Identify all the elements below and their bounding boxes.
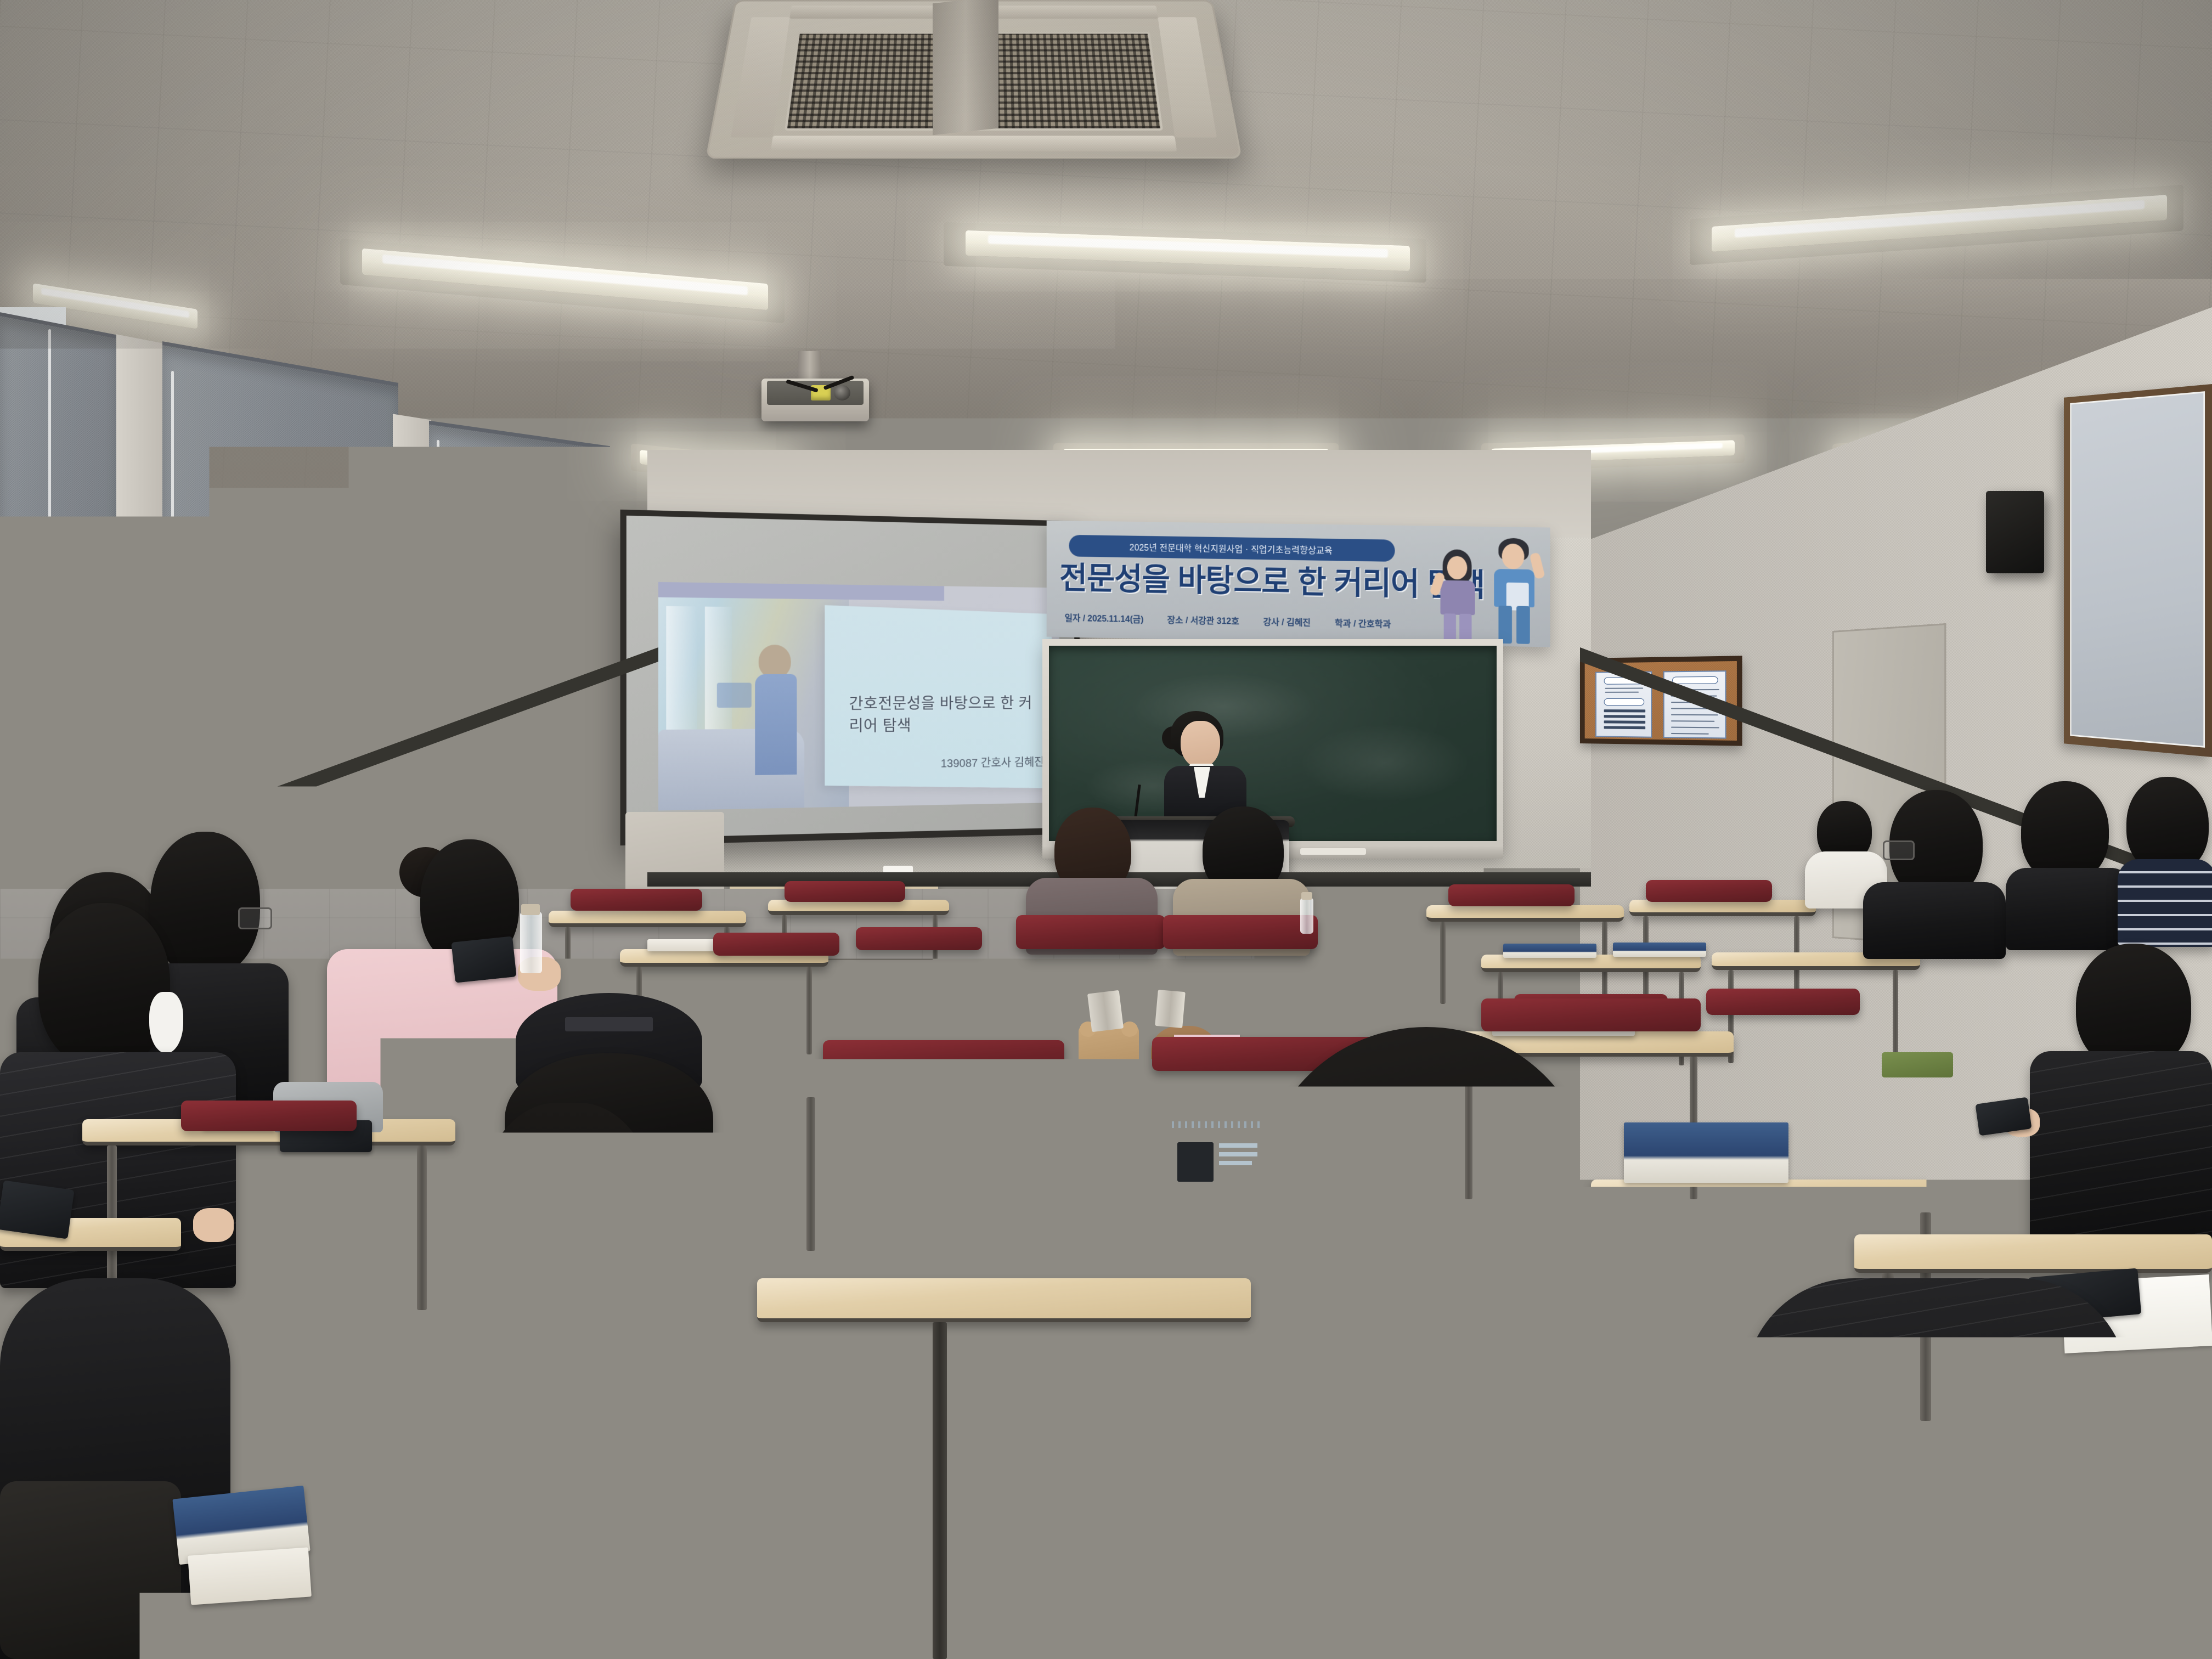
- pencils-icon[interactable]: [1087, 990, 1124, 1032]
- attendee-wall-4: [2118, 777, 2212, 941]
- smartphone-pink-student[interactable]: [451, 936, 516, 983]
- book-far-right-1[interactable]: [1503, 944, 1596, 958]
- slide-photo-nurse-body: [755, 674, 797, 775]
- banner-figure-female-icon: [1432, 549, 1482, 644]
- book-far-right-2[interactable]: [1613, 943, 1706, 957]
- presentation-slide: 간호전문성을 바탕으로 한 커리어 탐색 139087 간호사 김혜진: [658, 582, 1059, 811]
- window-glass-lower-left: [10, 638, 98, 821]
- blind-chain-1[interactable]: [48, 329, 51, 587]
- bottle-cap: [521, 904, 540, 915]
- slide-photo-nurse-head: [759, 645, 791, 678]
- presenter-face: [1181, 721, 1220, 768]
- attendee-torso: [0, 1052, 236, 1288]
- chair-front-left[interactable]: [1016, 915, 1165, 949]
- water-bottle-left[interactable]: [520, 912, 542, 973]
- desk-far-right-2: [1629, 900, 1816, 916]
- blind-texture-2: [162, 345, 398, 805]
- classroom-photo: 간호전문성을 바탕으로 한 커리어 탐색 139087 간호사 김혜진 2025…: [0, 0, 2212, 1659]
- hoodie-hood: [1218, 1301, 1635, 1565]
- chair-far-3[interactable]: [713, 933, 839, 956]
- screen-surface: 간호전문성을 바탕으로 한 커리어 탐색 139087 간호사 김혜진: [627, 516, 1074, 838]
- desk-far-left-1: [549, 911, 746, 927]
- banner-meta-department: 학과 / 간호학과: [1335, 616, 1391, 630]
- event-banner: 2025년 전문대학 혁신지원사업 · 직업기초능력향상교육 전문성을 바탕으로…: [1047, 521, 1550, 647]
- chair-far-2[interactable]: [785, 881, 905, 902]
- attendee-wall-3: [2006, 781, 2132, 946]
- chair-far-6[interactable]: [1646, 880, 1772, 902]
- desk-leg: [806, 967, 812, 1054]
- attendee-wall-2: [1863, 790, 2006, 955]
- desk-far-center-1: [768, 900, 949, 915]
- jacket-on-desk: [955, 1306, 1240, 1470]
- window-blind-2[interactable]: [162, 341, 398, 805]
- slide-photo: [658, 597, 849, 811]
- wall-pillar-1: [116, 334, 166, 766]
- projection-screen: 간호전문성을 바탕으로 한 커리어 탐색 139087 간호사 김혜진: [620, 510, 1080, 845]
- banner-headline: 전문성을 바탕으로 한 커리어 탐색: [1059, 563, 1441, 601]
- chair-far-4[interactable]: [856, 927, 982, 950]
- chalk-smudge-2: [1300, 724, 1470, 802]
- projector-lens-icon: [834, 385, 850, 400]
- attendee-head: [38, 903, 170, 1068]
- slide-photo-frame: [716, 682, 751, 708]
- attendee-torso: [2118, 859, 2212, 947]
- tablet-foreground-left[interactable]: [0, 1180, 75, 1239]
- slide-author: 139087 간호사 김혜진: [897, 753, 1044, 771]
- attendee-torso: [1863, 882, 2006, 959]
- jacket-texture: [0, 1052, 236, 1288]
- glasses-icon: [238, 907, 272, 929]
- attendee-head: [1262, 1027, 1591, 1345]
- blind-texture-3: [429, 425, 610, 825]
- slide-title: 간호전문성을 바탕으로 한 커리어 탐색: [849, 692, 1045, 737]
- attendee-torso: [2030, 1051, 2212, 1254]
- chair-center-right[interactable]: [1481, 998, 1701, 1031]
- window-blind-3[interactable]: [429, 421, 610, 825]
- banner-figure-male-icon: [1486, 538, 1544, 645]
- slide-photo-curtain-2: [705, 606, 732, 729]
- chair-far-1[interactable]: [571, 889, 702, 911]
- speaker-icon-left: [473, 516, 523, 587]
- green-lunchbox[interactable]: [1882, 1052, 1953, 1077]
- attendee-head: [2021, 781, 2109, 882]
- banner-meta-date: 일자 / 2025.11.14(금): [1065, 611, 1144, 625]
- blind-chain-2[interactable]: [171, 371, 174, 667]
- book-floor-right[interactable]: [1951, 1525, 2120, 1597]
- chair-far-8[interactable]: [1706, 989, 1860, 1015]
- ac-vane-bottom: [771, 136, 1177, 151]
- banner-meta-place: 장소 / 서강관 312호: [1167, 613, 1239, 627]
- chair-mid-left[interactable]: [823, 1040, 1064, 1076]
- desk-leg: [933, 915, 938, 992]
- desk-leg: [1893, 970, 1898, 1063]
- attendee-right-phone: [2030, 944, 2212, 1251]
- banner-pill-text: 2025년 전문대학 혁신지원사업 · 직업기초능력향상교육: [1130, 540, 1333, 556]
- attendee-torso: [2006, 868, 2132, 950]
- face-mask-icon: [149, 992, 183, 1053]
- attendee-sherpa-fleece: [247, 1103, 828, 1659]
- chair-front-right[interactable]: [1163, 915, 1318, 949]
- speaker-icon-right: [1986, 491, 2044, 573]
- bag-floor-right[interactable]: [1734, 1350, 1931, 1525]
- banner-program-pill: 2025년 전문대학 혁신지원사업 · 직업기초능력향상교육: [1069, 535, 1395, 562]
- cap-strap: [565, 1017, 653, 1031]
- desk-near-right: [1854, 1234, 2212, 1273]
- glasses-icon: [1883, 840, 1915, 860]
- pencils-icon-2[interactable]: [1155, 990, 1186, 1028]
- banner-meta-row: 일자 / 2025.11.14(금) 장소 / 서강관 312호 강사 / 김혜…: [1065, 611, 1469, 631]
- jacket-texture: [2030, 1051, 2212, 1254]
- slide-photo-curtain-1: [666, 606, 697, 738]
- water-bottle-front[interactable]: [1300, 898, 1313, 934]
- attendee-hand: [193, 1208, 234, 1242]
- chair-far-5[interactable]: [1448, 884, 1575, 906]
- banner-meta-lecturer: 강사 / 김혜진: [1263, 614, 1311, 629]
- ceiling-duct: [933, 0, 998, 135]
- notebook-floor-left[interactable]: [188, 1547, 312, 1605]
- desk-leg: [1838, 1108, 1845, 1234]
- desk-leg: [1440, 922, 1446, 1004]
- whiteboard-frame: [2064, 384, 2212, 757]
- blind-chain-3[interactable]: [437, 440, 439, 692]
- hair-ponytail-tail: [494, 1245, 620, 1448]
- bottle-cap: [1301, 892, 1312, 900]
- desk-far-right-1: [1426, 905, 1624, 922]
- eraser-icon[interactable]: [1300, 848, 1366, 855]
- backpack[interactable]: [0, 1481, 181, 1659]
- whiteboard-surface[interactable]: [2070, 391, 2205, 748]
